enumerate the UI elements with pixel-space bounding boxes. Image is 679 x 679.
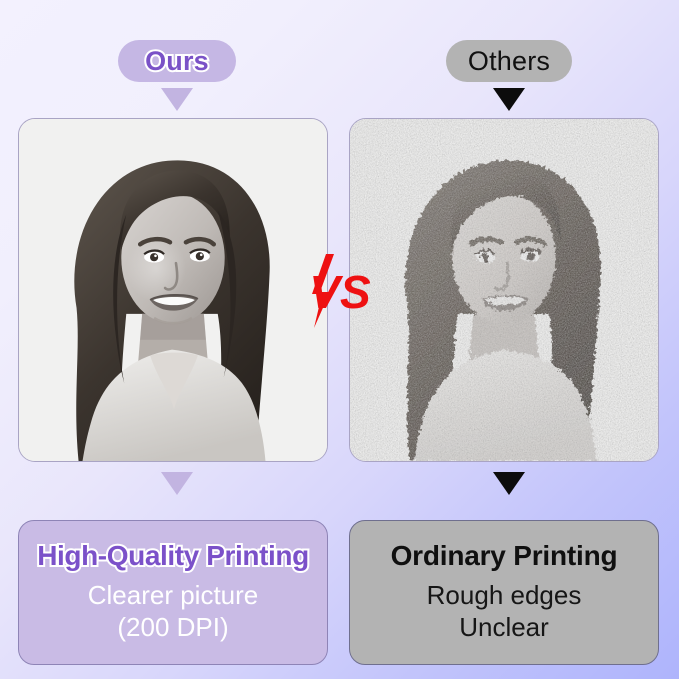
others-badge: Others — [446, 40, 572, 82]
noisy-portrait-image — [350, 119, 658, 461]
high-quality-caption-line-1: Clearer picture — [88, 579, 259, 612]
header-badge-row: Ours Others — [0, 0, 679, 118]
ordinary-caption-panel: Ordinary Printing Rough edges Unclear — [349, 520, 659, 665]
versus-emblem: VS — [300, 252, 380, 330]
arrow-down-icon-ours-bottom — [161, 472, 193, 495]
high-quality-caption-line-2: (200 DPI) — [117, 611, 228, 644]
ordinary-caption-title: Ordinary Printing — [391, 541, 618, 571]
arrow-down-icon-others-bottom — [493, 472, 525, 495]
arrow-down-icon-ours-top — [161, 88, 193, 111]
ordinary-caption-line-1: Rough edges — [427, 579, 582, 612]
ours-badge-label: Ours — [145, 48, 209, 75]
ordinary-image-card — [349, 118, 659, 462]
high-quality-portrait-image — [19, 119, 327, 461]
arrow-down-icon-others-top — [493, 88, 525, 111]
high-quality-image-card — [18, 118, 328, 462]
ordinary-caption-line-2: Unclear — [459, 611, 549, 644]
comparison-infographic: Ours Others — [0, 0, 679, 679]
others-badge-label: Others — [468, 48, 550, 75]
ours-badge: Ours — [118, 40, 236, 82]
high-quality-caption-title: High-Quality Printing — [37, 541, 309, 571]
high-quality-caption-panel: High-Quality Printing Clearer picture (2… — [18, 520, 328, 665]
versus-label: VS — [309, 266, 371, 318]
